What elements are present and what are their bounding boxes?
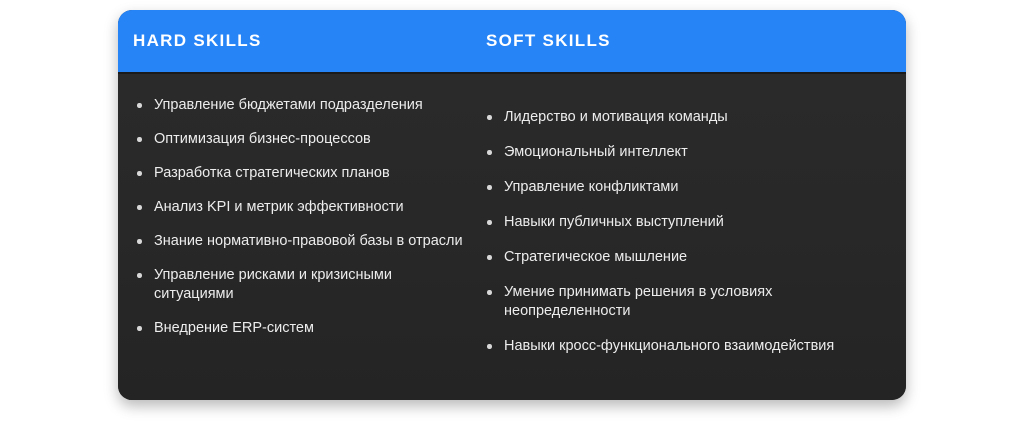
list-item-label: Управление бюджетами подразделения <box>154 96 473 115</box>
list-item-label: Анализ KPI и метрик эффективности <box>154 198 473 217</box>
list-item-label: Умение принимать решения в условиях неоп… <box>504 283 882 321</box>
hard-skills-title: HARD SKILLS <box>133 31 262 51</box>
list-item-label: Навыки публичных выступлений <box>504 213 882 232</box>
list-item: Эмоциональный интеллект <box>483 143 882 162</box>
list-item: Управление бюджетами подразделения <box>133 96 473 115</box>
list-item: Навыки публичных выступлений <box>483 213 882 232</box>
list-item-label: Разработка стратегических планов <box>154 164 473 183</box>
list-item: Управление рисками и кризисными ситуация… <box>133 266 473 304</box>
bullet-icon <box>487 150 492 155</box>
bullet-icon <box>137 171 142 176</box>
bullet-icon <box>137 205 142 210</box>
list-item: Умение принимать решения в условиях неоп… <box>483 283 882 321</box>
list-item: Анализ KPI и метрик эффективности <box>133 198 473 217</box>
list-item-label: Стратегическое мышление <box>504 248 882 267</box>
list-item-label: Управление конфликтами <box>504 178 882 197</box>
header-cell-soft-skills: SOFT SKILLS <box>483 10 906 72</box>
list-item: Лидерство и мотивация команды <box>483 108 882 127</box>
bullet-icon <box>137 137 142 142</box>
soft-skills-title: SOFT SKILLS <box>486 31 611 51</box>
bullet-icon <box>487 115 492 120</box>
list-item-label: Эмоциональный интеллект <box>504 143 882 162</box>
list-item-label: Оптимизация бизнес-процессов <box>154 130 473 149</box>
list-item: Стратегическое мышление <box>483 248 882 267</box>
bullet-icon <box>487 220 492 225</box>
card-body: Управление бюджетами подразделения Оптим… <box>118 74 906 400</box>
list-item: Разработка стратегических планов <box>133 164 473 183</box>
bullet-icon <box>487 290 492 295</box>
bullet-icon <box>137 326 142 331</box>
bullet-icon <box>137 273 142 278</box>
list-item-label: Лидерство и мотивация команды <box>504 108 882 127</box>
card-header: HARD SKILLS SOFT SKILLS <box>118 10 906 74</box>
hard-skills-column: Управление бюджетами подразделения Оптим… <box>118 74 483 400</box>
hard-skills-list: Управление бюджетами подразделения Оптим… <box>133 96 473 338</box>
header-cell-hard-skills: HARD SKILLS <box>118 10 483 72</box>
bullet-icon <box>137 239 142 244</box>
bullet-icon <box>487 344 492 349</box>
list-item: Знание нормативно-правовой базы в отрасл… <box>133 232 473 251</box>
bullet-icon <box>137 103 142 108</box>
list-item-label: Знание нормативно-правовой базы в отрасл… <box>154 232 473 251</box>
skills-card: HARD SKILLS SOFT SKILLS Управление бюдже… <box>118 10 906 400</box>
list-item-label: Навыки кросс-функционального взаимодейст… <box>504 337 882 356</box>
list-item-label: Управление рисками и кризисными ситуация… <box>154 266 473 304</box>
list-item: Навыки кросс-функционального взаимодейст… <box>483 337 882 356</box>
list-item: Управление конфликтами <box>483 178 882 197</box>
list-item-label: Внедрение ERP-систем <box>154 319 473 338</box>
soft-skills-list: Лидерство и мотивация команды Эмоциональ… <box>483 108 882 356</box>
bullet-icon <box>487 255 492 260</box>
list-item: Оптимизация бизнес-процессов <box>133 130 473 149</box>
list-item: Внедрение ERP-систем <box>133 319 473 338</box>
soft-skills-column: Лидерство и мотивация команды Эмоциональ… <box>483 74 906 400</box>
bullet-icon <box>487 185 492 190</box>
